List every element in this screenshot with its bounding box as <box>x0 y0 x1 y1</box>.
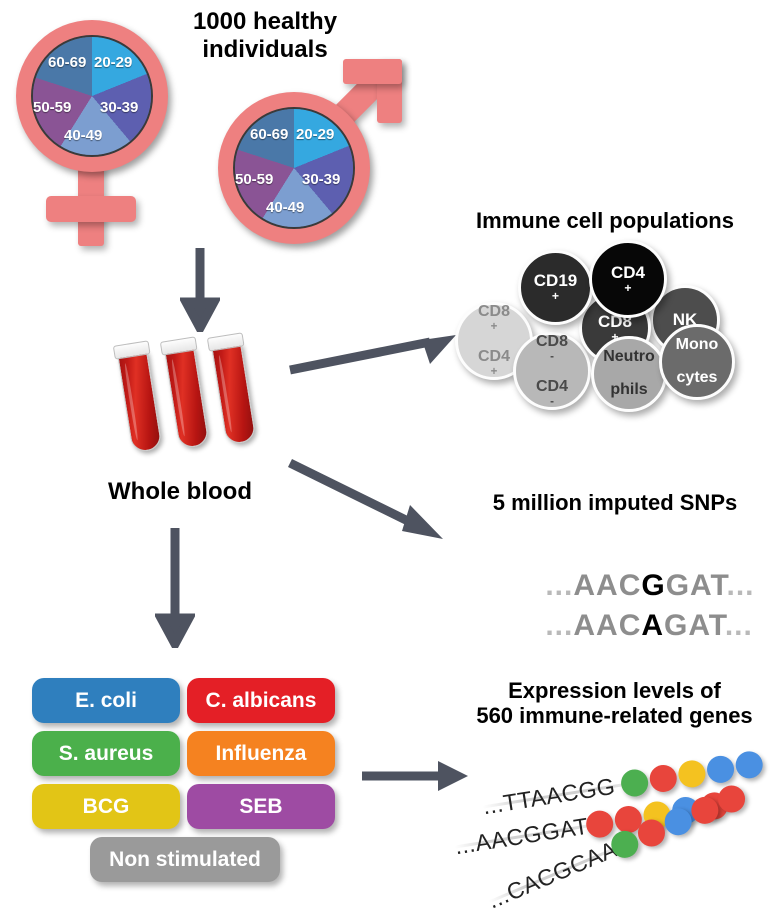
arrow-blood-to-snps <box>288 455 463 555</box>
expression-title-line1: Expression levels of <box>462 678 767 703</box>
stimulus-non-stimulated[interactable]: Non stimulated <box>90 837 280 882</box>
male-pie-label-50-59: 50-59 <box>235 171 273 188</box>
blood-tubes-group <box>115 340 275 465</box>
stimulus-c-albicans[interactable]: C. albicans <box>187 678 335 723</box>
male-pie-label-40-49: 40-49 <box>266 199 304 216</box>
blood-tube <box>164 346 209 449</box>
snps-title: 5 million imputed SNPs <box>470 490 760 515</box>
snp-allele-2: ...AACAGAT... <box>508 575 753 677</box>
diagram-canvas: 1000 healthy individuals 20-29 30-39 40-… <box>0 0 771 922</box>
stimulus-bcg[interactable]: BCG <box>32 784 180 829</box>
snp2-trail: ... <box>725 609 753 642</box>
cell-bubble-cd19: CD19+ <box>518 250 593 325</box>
blood-tube <box>117 350 162 453</box>
stimuli-group: E. coli C. albicans S. aureus Influenza … <box>32 678 332 893</box>
arrow-cohort-to-blood <box>180 248 220 332</box>
stimulus-s-aureus[interactable]: S. aureus <box>32 731 180 776</box>
cell-sup-cd19: + <box>534 290 577 303</box>
immune-title: Immune cell populations <box>455 208 755 233</box>
blood-tube <box>211 342 256 445</box>
snp2-variant: A <box>641 609 664 642</box>
cell-label-dp-line1: CD8 <box>478 304 510 321</box>
venus-crossbar <box>46 196 136 222</box>
stimulus-influenza[interactable]: Influenza <box>187 731 335 776</box>
gene-bead <box>648 763 679 794</box>
cohort-title-line1: 1000 healthy <box>160 8 370 36</box>
cell-label-neutro-line2: phils <box>603 382 655 399</box>
cell-label-mono-line1: Mono <box>676 337 719 354</box>
gene-bead <box>676 758 707 789</box>
cell-label-dp-line2: CD4 <box>478 349 510 366</box>
gene-bead <box>714 781 749 816</box>
cell-label-mono-line2: cytes <box>676 370 719 387</box>
cell-sup-cd4: + <box>611 282 645 295</box>
cell-sup-dp-2: + <box>478 366 510 378</box>
expression-strands-group: ...TTAACGG ...AACGGAT ...CACGCAA <box>455 745 771 910</box>
male-pie-label-20-29: 20-29 <box>296 126 334 143</box>
snp2-post: GAT <box>664 609 725 642</box>
male-pie-label-30-39: 30-39 <box>302 171 340 188</box>
cell-sup-dp-1: + <box>478 321 510 333</box>
stimulus-e-coli[interactable]: E. coli <box>32 678 180 723</box>
immune-bubbles-group: CD19+ CD4+ NK CD8+ CD8+ CD4+ CD8- CD4- <box>455 240 755 415</box>
male-pie-label-60-69: 60-69 <box>250 126 288 143</box>
cell-bubble-neutrophils: Neutro phils <box>591 336 667 412</box>
female-pie-label-20-29: 20-29 <box>94 54 132 71</box>
snp2-lead: ... <box>545 609 573 642</box>
arrow-blood-to-stimuli <box>155 528 195 648</box>
arrow-blood-to-immune <box>288 330 463 385</box>
female-symbol: 20-29 30-39 40-49 50-59 60-69 <box>8 14 188 244</box>
cell-label-cd4: CD4 <box>611 264 645 282</box>
gene-bead <box>619 768 650 799</box>
mars-arrowhead-horizontal <box>343 59 402 84</box>
stimulus-seb[interactable]: SEB <box>187 784 335 829</box>
expression-title-line2: 560 immune-related genes <box>462 703 767 728</box>
snp2-pre: AAC <box>573 609 641 642</box>
cell-label-dn-line1: CD8 <box>536 334 568 351</box>
whole-blood-label: Whole blood <box>80 478 280 506</box>
female-pie-label-40-49: 40-49 <box>64 127 102 144</box>
cell-sup-dn-2: - <box>536 396 568 408</box>
female-pie-label-30-39: 30-39 <box>100 99 138 116</box>
cell-bubble-cd4: CD4+ <box>589 240 667 318</box>
cell-label-cd19: CD19 <box>534 272 577 290</box>
cell-bubble-cd8-cd4-dn: CD8- CD4- <box>513 332 591 410</box>
cell-bubble-monocytes: Mono cytes <box>659 324 735 400</box>
female-pie-label-50-59: 50-59 <box>33 99 71 116</box>
female-pie-label-60-69: 60-69 <box>48 54 86 71</box>
cell-label-dn-line2: CD4 <box>536 379 568 396</box>
expression-title: Expression levels of 560 immune-related … <box>462 678 767 729</box>
cell-label-neutro-line1: Neutro <box>603 349 655 366</box>
cell-sup-dn-1: - <box>536 351 568 363</box>
male-symbol: 20-29 30-39 40-49 50-59 60-69 <box>214 55 414 250</box>
